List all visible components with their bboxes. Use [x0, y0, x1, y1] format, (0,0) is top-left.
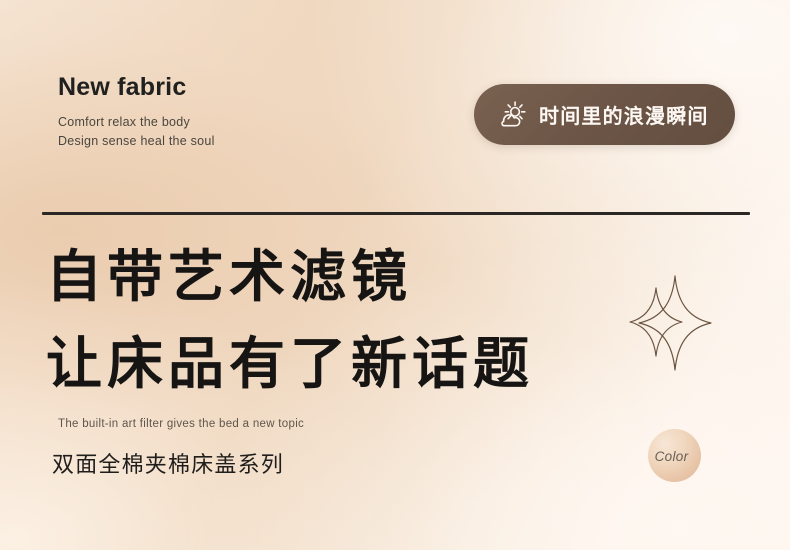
color-swatch-label: Color: [655, 449, 689, 464]
promo-banner: New fabric Comfort relax the body Design…: [0, 0, 790, 550]
eyebrow-subtitle-line-2: Design sense heal the soul: [58, 132, 215, 151]
romantic-moment-badge[interactable]: 时间里的浪漫瞬间: [474, 84, 735, 145]
sun-behind-cloud-icon: [498, 100, 528, 130]
headline-line-1: 自带艺术滤镜: [46, 250, 412, 306]
eyebrow-title: New fabric: [58, 74, 215, 102]
headline-line-2: 让床品有了新话题: [46, 337, 534, 393]
eyebrow-block: New fabric Comfort relax the body Design…: [58, 74, 215, 151]
product-series-name: 双面全棉夹棉床盖系列: [52, 447, 284, 479]
color-swatch-bubble[interactable]: Color: [648, 429, 701, 482]
horizontal-divider: [42, 212, 750, 215]
eyebrow-subtitle: Comfort relax the body Design sense heal…: [58, 113, 215, 152]
english-caption: The built-in art filter gives the bed a …: [58, 418, 304, 430]
eyebrow-subtitle-line-1: Comfort relax the body: [58, 113, 215, 132]
badge-label: 时间里的浪漫瞬间: [539, 100, 709, 129]
